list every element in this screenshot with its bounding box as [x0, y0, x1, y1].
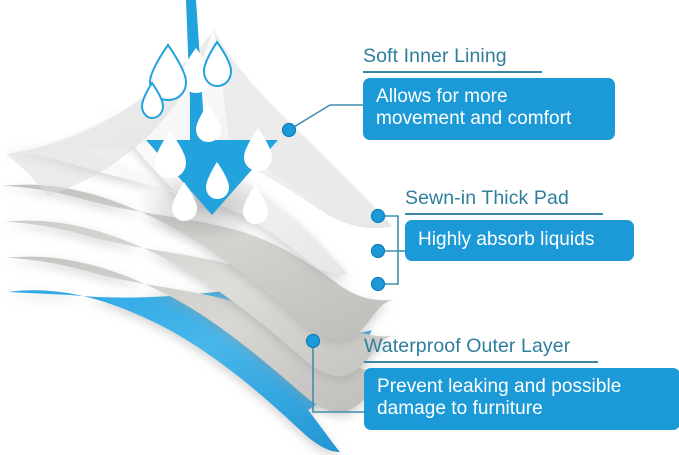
connector-dot-pad-middle	[372, 245, 385, 258]
callout-heading-soft-inner-lining: Soft Inner Lining	[363, 46, 663, 67]
heading-underline-soft-inner-lining	[363, 71, 542, 73]
connector-sewn-in-thick-pad	[372, 210, 409, 291]
connector-dot-soft-inner-lining	[283, 124, 296, 137]
callout-box-sewn-in-thick-pad: Highly absorb liquids	[405, 220, 634, 261]
callout-heading-sewn-in-thick-pad: Sewn-in Thick Pad	[405, 188, 679, 209]
connector-dot-waterproof-outer-layer	[307, 335, 320, 348]
callout-box-waterproof-outer-layer: Prevent leaking and possible damage to f…	[364, 368, 679, 429]
infographic-canvas: Soft Inner Lining Allows for more moveme…	[0, 0, 679, 455]
connector-dot-pad-upper	[372, 210, 385, 223]
callout-box-soft-inner-lining: Allows for more movement and comfort	[363, 78, 615, 139]
heading-underline-waterproof-outer-layer	[364, 361, 598, 363]
callout-sewn-in-thick-pad: Sewn-in Thick Pad Highly absorb liquids	[405, 188, 679, 261]
connector-soft-inner-lining	[283, 105, 367, 137]
callout-heading-waterproof-outer-layer: Waterproof Outer Layer	[364, 336, 679, 357]
callout-waterproof-outer-layer: Waterproof Outer Layer Prevent leaking a…	[364, 336, 679, 430]
callout-soft-inner-lining: Soft Inner Lining Allows for more moveme…	[363, 46, 663, 140]
heading-underline-sewn-in-thick-pad	[405, 213, 603, 215]
connector-dot-pad-lower	[372, 278, 385, 291]
